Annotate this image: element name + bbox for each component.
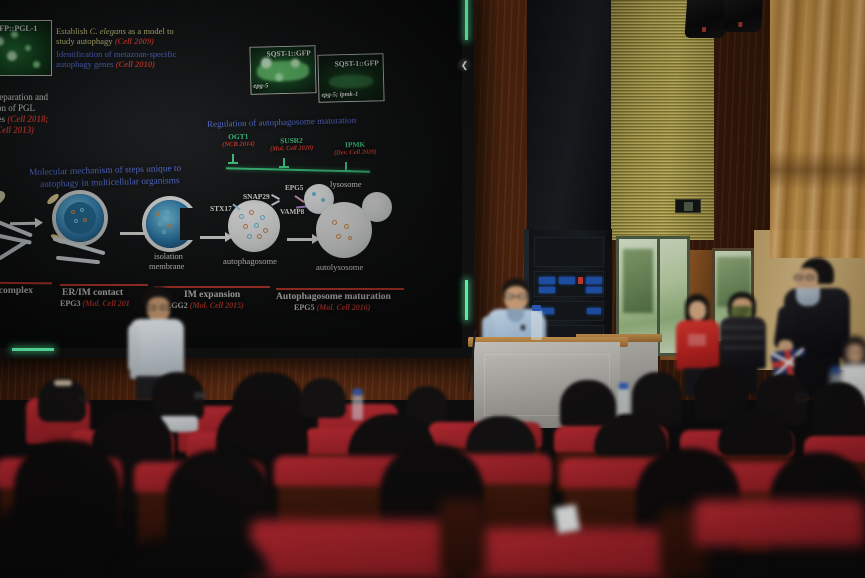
diagram-arrow <box>287 238 313 241</box>
diagram-epg3-patch <box>46 192 61 206</box>
micrograph-top-label: SQST-1::GFP <box>335 58 379 68</box>
cargo-dot <box>71 210 75 214</box>
cargo-dot <box>162 230 166 234</box>
diagram-membrane-gap <box>180 208 198 240</box>
bottle-cap <box>532 305 541 311</box>
diagram-autolysosome-bud <box>362 192 392 222</box>
bottle-cap <box>619 383 628 389</box>
cut-text-word: nules <box>0 114 5 124</box>
caption-title-1: 200 complex <box>0 285 33 296</box>
caption-citation-4: (Mol. Cell 2016) <box>316 303 370 312</box>
bullet-text: autophagy genes <box>56 59 116 69</box>
slide-cut-text-block: se separation and sition of PGL nules (C… <box>0 92 49 136</box>
seat-foreground <box>694 500 864 546</box>
caption-gene: EPG3 <box>60 299 80 308</box>
caption-citation-1: 2022) <box>0 297 1 306</box>
diagram-cargo-cluster <box>70 208 90 228</box>
regulator-ogt1: OGT1 (NCB 2014) <box>222 132 255 149</box>
micrograph-bottom-label: epg-5 <box>253 82 268 89</box>
regulator-ipmk: IPMK (Dev. Cell 2020) <box>334 139 377 156</box>
cargo-dot <box>74 219 78 223</box>
diagram-arrow <box>10 222 36 225</box>
cut-text-line: nules (Cell 2018; <box>0 114 49 125</box>
seat-armrest <box>440 500 486 578</box>
cargo-dot <box>257 234 262 239</box>
cargo-dot <box>158 222 162 226</box>
bullet-text: as a model to <box>126 26 174 36</box>
label-isolation: isolation <box>154 252 183 261</box>
lysosome-dot <box>321 198 325 202</box>
bullet-citation: (Cell 2010) <box>116 59 155 69</box>
screen-chevron-left-icon[interactable]: ❮ <box>457 58 472 73</box>
fluorescent-worm-body <box>329 74 373 88</box>
bullet-citation: (Cell 2009) <box>115 36 154 46</box>
glasses-icon <box>146 305 170 310</box>
label-membrane: membrane <box>149 262 184 271</box>
audience-member <box>38 378 86 424</box>
rack-led-display <box>586 287 602 293</box>
caption-citation-2: (Mol. Cell 201 <box>82 299 129 308</box>
glasses-icon <box>796 394 808 401</box>
cargo-dot <box>344 224 349 229</box>
cargo-dot <box>249 210 254 215</box>
bottle-cap <box>831 367 840 373</box>
audience-member-foreground <box>120 538 270 578</box>
fluorescent-punctum <box>7 51 17 61</box>
inhibition-symbol-icon <box>228 154 238 164</box>
rack-bay <box>534 237 604 267</box>
regulator-citation: (Dev. Cell 2020) <box>334 148 377 156</box>
bullet-text: Identification of metazoan-specific <box>56 49 176 59</box>
audience-hair <box>812 382 865 434</box>
diagram-er-tubule <box>0 239 28 260</box>
diagram-snap29-tether <box>271 200 280 206</box>
projection-screen-frame: GFP::PGL-1 e-4 Establish C. elegans as a… <box>0 0 474 358</box>
curtain-fold-shadow <box>770 150 865 190</box>
diagram-cargo-cluster <box>156 210 180 236</box>
slide-bullet-block: Establish C. elegans as a model to study… <box>56 26 176 70</box>
cargo-dot <box>239 214 244 219</box>
micrograph-top-label: SQST-1::GFP <box>266 48 310 58</box>
micrograph-sqst1-epg5-ipmk1: SQST-1::GFP epg-5; ipmk-1 <box>317 53 384 103</box>
bullet-line-2: study autophagy (Cell 2009) <box>56 36 176 46</box>
ceiling-speaker-left <box>684 0 727 38</box>
cargo-dot <box>165 210 169 214</box>
water-bottle <box>618 388 629 414</box>
cut-text-line: sition of PGL <box>0 103 49 114</box>
lavalier-mic-icon <box>521 325 525 330</box>
projection-screen: GFP::PGL-1 e-4 Establish C. elegans as a… <box>0 0 462 348</box>
diagram-cargo-cluster <box>238 210 272 242</box>
label-lysosome: lysosome <box>330 180 362 189</box>
cargo-dot <box>80 208 84 212</box>
cargo-dot <box>168 224 172 228</box>
rack-led-display <box>587 308 601 314</box>
top-stripe <box>722 346 764 349</box>
label-snap29: SNAP29 <box>243 192 270 201</box>
hoodie-graphic <box>688 334 706 346</box>
cargo-dot <box>247 234 252 239</box>
attendee-top <box>720 317 766 369</box>
top-stripe <box>722 336 764 339</box>
label-stx17: STX17 <box>210 204 232 213</box>
audience-hair <box>0 500 130 578</box>
caption-detail-4: EPG5 (Mol. Cell 2016) <box>294 303 370 312</box>
rack-led-indicator <box>578 277 583 284</box>
micrograph-gfp-pgl1: GFP::PGL-1 e-4 <box>0 20 52 76</box>
bullet-line-3: Identification of metazoan-specific <box>56 49 176 59</box>
audience-member-foreground <box>0 500 130 578</box>
seat-foreground <box>250 520 450 578</box>
caption-gene: EPG5 <box>294 303 314 312</box>
regulation-title: Regulation of autophagosome maturation <box>207 115 356 129</box>
label-autolysosome: autolysosome <box>316 262 363 272</box>
caption-title-2: ER/IM contact <box>62 287 123 298</box>
caption-rule <box>276 288 404 290</box>
bullet-line-1: Establish C. elegans as a model to <box>56 26 176 36</box>
paper-sheet <box>554 504 580 533</box>
exit-running-man-icon <box>684 202 693 211</box>
cut-text-citation: (Cell 2018; <box>7 114 48 124</box>
fluorescent-punctum <box>33 61 40 68</box>
caption-title-4: Autophagosome maturation <box>276 291 391 302</box>
cargo-dot <box>348 236 352 240</box>
cargo-dot <box>243 224 248 229</box>
caption-title-3: IM expansion <box>184 289 240 300</box>
cargo-dot <box>83 218 87 222</box>
lysosome-dot <box>312 192 316 196</box>
cargo-dot <box>332 220 337 225</box>
rack-led-display <box>586 277 602 284</box>
label-vamp8: VAMP8 <box>280 208 304 216</box>
cut-text-line: se separation and <box>0 92 49 103</box>
micrograph-sqst1-epg5: SQST-1::GFP epg-5 <box>249 45 316 95</box>
fluorescent-punctum <box>25 45 31 51</box>
exit-sign <box>675 199 701 213</box>
cargo-dot <box>263 228 268 233</box>
glasses-icon <box>845 350 865 355</box>
cargo-dot <box>260 215 265 220</box>
label-autophagosome: autophagosome <box>223 256 277 266</box>
av-rack-upper-column <box>527 0 611 230</box>
micrograph-bottom-label: epg-5; ipmk-1 <box>321 91 358 99</box>
label-epg5: EPG5 <box>285 184 303 192</box>
bullet-text: Establish <box>56 26 90 36</box>
audience-hair <box>120 538 270 578</box>
cargo-dot <box>156 212 160 216</box>
diagram-er-tubule <box>56 256 100 265</box>
rack-frame-post <box>606 229 612 349</box>
hair-clip <box>54 380 72 386</box>
led-strip-bottom <box>465 280 468 320</box>
inhibition-symbol-icon <box>279 158 289 168</box>
bullet-italic-species: C. elegans <box>90 26 126 36</box>
cargo-dot <box>254 223 259 228</box>
lecture-hall-photo: GFP::PGL-1 e-4 Establish C. elegans as a… <box>0 0 865 578</box>
attendee-inner-shirt <box>796 288 820 306</box>
diagram-membrane-blob <box>0 188 8 210</box>
bullet-line-4: autophagy genes (Cell 2010) <box>56 59 176 69</box>
window-curtain <box>770 0 865 258</box>
glasses-icon <box>194 392 206 399</box>
glasses-icon <box>504 294 528 299</box>
water-bottle <box>531 310 542 340</box>
rack-led-display <box>559 277 575 284</box>
led-strip-top <box>465 0 468 40</box>
attendee-arm <box>128 324 140 372</box>
led-strip-floor <box>12 348 54 351</box>
ceiling-speaker-right <box>723 0 763 32</box>
glasses-icon <box>80 396 90 402</box>
regulator-citation: (Mol. Cell 2020) <box>270 144 313 152</box>
audience-member <box>812 382 865 438</box>
regulator-susr2: SUSR2 (Mol. Cell 2020) <box>270 135 314 152</box>
caption-citation-3: (Mol. Cell 2015) <box>190 301 244 310</box>
mechanism-title-line2: autophagy in multicellular organisms <box>40 176 180 190</box>
attendee-face <box>689 301 706 320</box>
seat-foreground <box>470 528 670 578</box>
caption-rule <box>0 282 52 285</box>
speaker-led-icon <box>738 22 742 27</box>
diagram-cargo-cluster <box>330 218 360 246</box>
top-stripe <box>722 326 764 329</box>
micrograph-top-label: GFP::PGL-1 <box>0 24 37 33</box>
window-foliage <box>623 249 653 313</box>
glasses-icon <box>794 275 814 280</box>
diagram-arrow <box>200 236 226 239</box>
bullet-text: study autophagy <box>56 36 115 46</box>
caption-detail-2: EPG3 (Mol. Cell 201 <box>60 299 130 308</box>
regulator-citation: (NCB 2014) <box>222 141 255 149</box>
diagram-arrow <box>120 232 146 235</box>
cut-text-citation: L. Cell 2013) <box>0 125 49 136</box>
speaker-led-icon <box>702 27 706 32</box>
cargo-dot <box>336 234 341 239</box>
bottle-cap <box>353 389 362 395</box>
